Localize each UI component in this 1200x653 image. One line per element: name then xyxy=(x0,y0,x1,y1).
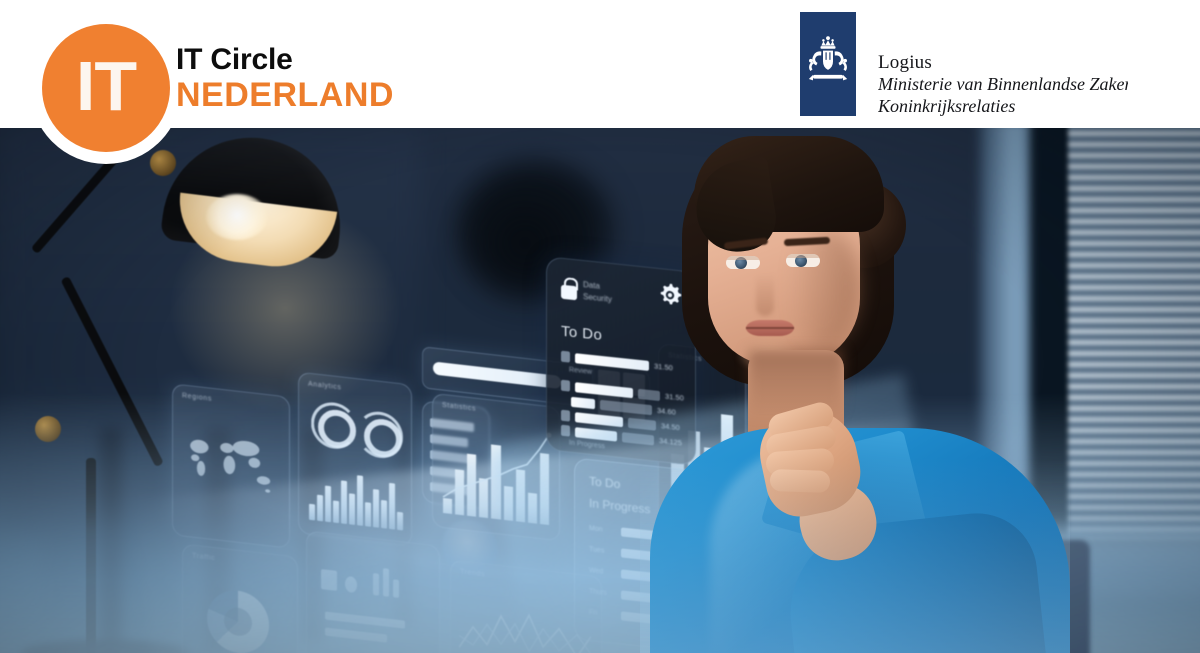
row-progress xyxy=(575,382,633,398)
row-progress xyxy=(575,412,623,427)
face-shadow xyxy=(790,228,860,348)
logius-subtitle-line-2: Koninkrijksrelaties xyxy=(878,96,1128,118)
progress-row-label: Tues xyxy=(589,546,615,556)
logo-wordmark: IT Circle NEDERLAND xyxy=(176,44,394,113)
donut-chart xyxy=(207,587,269,653)
user-icon xyxy=(345,576,357,593)
lamp-bulb xyxy=(206,194,268,240)
line-chart xyxy=(459,591,591,653)
lamp-joint xyxy=(150,150,176,176)
security-label-line-2: Security xyxy=(583,291,612,306)
progress-bar xyxy=(325,612,405,629)
logo-line-nederland: NEDERLAND xyxy=(176,78,394,114)
logius-name: Logius xyxy=(878,52,1128,74)
radar-card[interactable]: Analytics xyxy=(298,372,412,547)
panel-footer-label: In Progress xyxy=(569,440,605,451)
header-band: IT IT Circle NEDERLAND xyxy=(0,0,1200,128)
lamp-joint xyxy=(35,416,61,442)
banner-page: IT IT Circle NEDERLAND xyxy=(0,0,1200,653)
nose xyxy=(756,274,774,316)
statistics-chart-card[interactable]: Statistics xyxy=(432,393,560,542)
document-icon xyxy=(321,569,337,591)
security-label: Data Security xyxy=(583,279,612,306)
progress-row-label: Fri xyxy=(589,609,615,619)
finger xyxy=(770,469,831,493)
trends-card-caption: Trends xyxy=(460,568,485,578)
progress-row-label: Thurs xyxy=(589,588,615,598)
logo-circle-mark: IT xyxy=(42,24,170,152)
row-badge xyxy=(561,380,570,392)
logius-subtitle-line-1: Ministerie van Binnenlandse Zaken en xyxy=(878,74,1128,96)
lip-line xyxy=(746,327,794,329)
radar-card-caption: Analytics xyxy=(308,381,341,392)
row-progress xyxy=(571,396,595,409)
lamp-stem xyxy=(86,458,96,653)
hero-image: Regions xyxy=(0,128,1200,653)
logius-logo[interactable]: Logius Ministerie van Binnenlandse Zaken… xyxy=(800,12,1128,116)
search-input[interactable] xyxy=(433,361,561,389)
row-progress xyxy=(575,427,617,441)
logius-lockup-text: Logius Ministerie van Binnenlandse Zaken… xyxy=(878,12,1128,118)
row-badge xyxy=(561,351,570,363)
trend-line xyxy=(441,417,553,526)
mini-bar-chart xyxy=(309,466,403,531)
window-blinds xyxy=(1068,128,1200,540)
row-badge xyxy=(561,410,570,422)
progress-bar xyxy=(325,628,387,643)
bar-icon xyxy=(383,568,389,597)
todo-heading: To Do xyxy=(561,323,602,344)
dutch-coat-of-arms-icon xyxy=(800,12,856,116)
logo-monogram: IT xyxy=(76,51,136,121)
eye-left xyxy=(726,256,760,269)
cabinet-slat xyxy=(100,428,122,653)
progress-row-label: Mon xyxy=(589,525,615,535)
map-card[interactable]: Regions xyxy=(172,383,290,548)
progress-panel-heading-todo: To Do xyxy=(589,474,620,491)
world-map-icon xyxy=(181,419,281,512)
logo-circle-ring: IT xyxy=(30,12,182,164)
bar-icon xyxy=(373,573,379,596)
lock-icon xyxy=(561,277,577,301)
row-sublabel: Review xyxy=(569,367,592,376)
progress-row-label: Wed xyxy=(589,567,615,577)
eye-right xyxy=(786,254,820,267)
icons-card[interactable] xyxy=(306,530,440,653)
row-badge xyxy=(561,425,570,437)
bar-icon xyxy=(393,579,399,598)
person-at-desk xyxy=(640,128,1070,653)
map-card-caption: Regions xyxy=(182,392,212,402)
chart-card-caption: Statistics xyxy=(442,402,476,413)
pie-card[interactable]: Traffic xyxy=(182,543,298,653)
logo-line-it-circle: IT Circle xyxy=(176,44,394,76)
pie-card-caption: Traffic xyxy=(192,553,215,563)
